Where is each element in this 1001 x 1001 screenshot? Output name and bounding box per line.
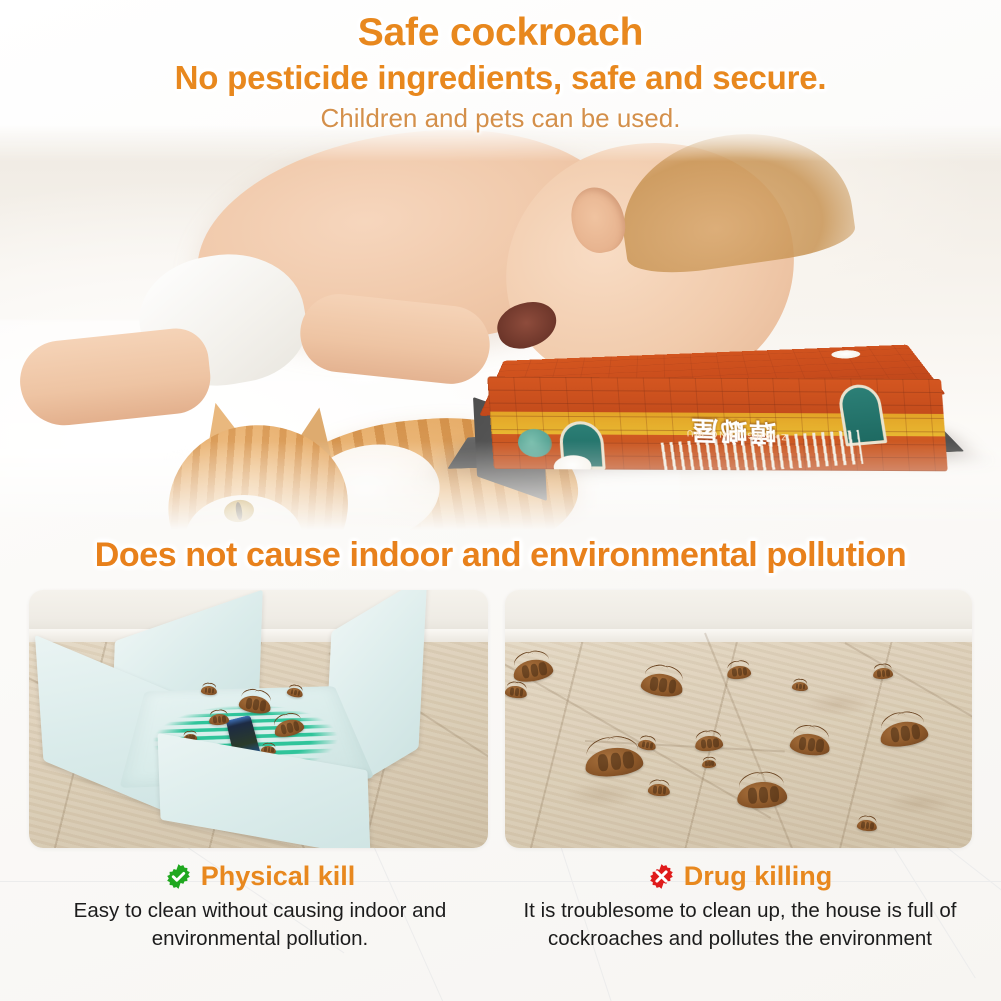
- headline-secondary: No pesticide ingredients, safe and secur…: [0, 58, 1001, 98]
- caption-title-row: Physical kill: [25, 860, 495, 892]
- caption-body-text: It is troublesome to clean up, the house…: [505, 897, 975, 953]
- caption-title-text: Physical kill: [201, 860, 356, 892]
- floor-cockroach: [637, 738, 656, 751]
- caption-physical-kill: Physical kill Easy to clean without caus…: [25, 860, 495, 953]
- floor-cockroach: [792, 681, 809, 691]
- check-circle-icon: [165, 863, 192, 890]
- floor-cockroach: [856, 819, 877, 832]
- comparison-panel-drug: [505, 590, 972, 848]
- floor-cockroach: [511, 656, 554, 684]
- header-block: Safe cockroach No pesticide ingredients,…: [0, 0, 1001, 135]
- headline-primary: Safe cockroach: [0, 0, 1001, 56]
- floor-cockroach: [694, 734, 723, 751]
- floor-cockroach: [789, 731, 831, 757]
- floor-cockroach: [879, 718, 930, 748]
- floor-cockroach: [726, 664, 751, 679]
- caption-body-text: Easy to clean without causing indoor and…: [25, 897, 495, 953]
- headline-tertiary: Children and pets can be used.: [0, 101, 1001, 135]
- floor-cockroach: [736, 780, 788, 809]
- caption-drug-killing: Drug killing It is troublesome to clean …: [505, 860, 975, 953]
- product-infographic: 蟑螂屋 ZHANG LANG WU Safe cockroach No pest…: [0, 0, 1001, 1001]
- product-box-front-panel: 蟑螂屋 ZHANG LANG WU: [487, 377, 948, 472]
- caption-title-row: Drug killing: [505, 860, 975, 892]
- floor-cockroach: [648, 783, 671, 797]
- product-box-logo-badge: [829, 349, 863, 359]
- comparison-panel-physical: [29, 590, 488, 848]
- glue-trap-box: [91, 634, 421, 834]
- mid-headline: Does not cause indoor and environmental …: [0, 536, 1001, 575]
- hero-photo: 蟑螂屋 ZHANG LANG WU: [0, 125, 1001, 530]
- floor-cockroach: [873, 667, 894, 679]
- floor-cockroach: [702, 759, 716, 768]
- product-box: 蟑螂屋 ZHANG LANG WU: [465, 290, 965, 515]
- floor-cockroach: [584, 745, 645, 779]
- caption-title-text: Drug killing: [684, 860, 833, 892]
- floor-cockroach: [505, 684, 528, 698]
- x-circle-icon: [648, 863, 675, 890]
- wood-floor: [505, 642, 972, 848]
- floor-cockroach: [640, 671, 685, 699]
